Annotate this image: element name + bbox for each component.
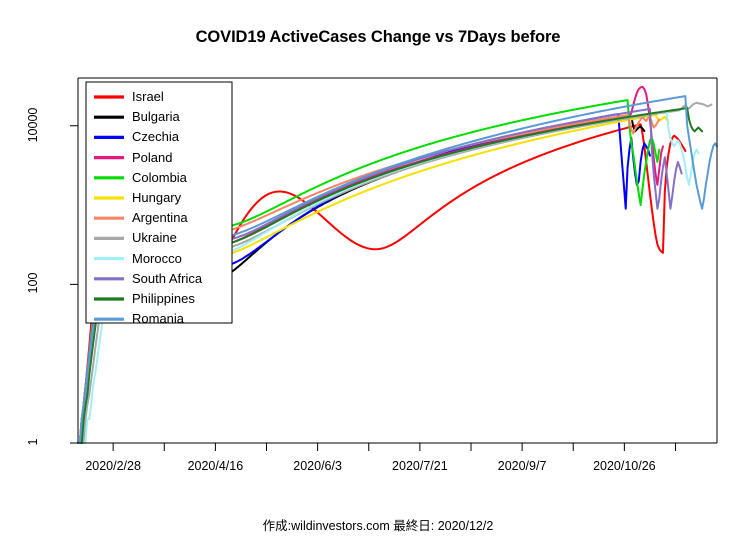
- y-tick-label: 1: [26, 409, 40, 475]
- chart-figure: COVID19 ActiveCases Change vs 7Days befo…: [0, 0, 756, 540]
- legend-item-poland[interactable]: Poland: [132, 150, 172, 165]
- legend-item-romania[interactable]: Romania: [132, 311, 184, 326]
- legend-item-hungary[interactable]: Hungary: [132, 190, 181, 205]
- x-tick-label: 2020/7/21: [375, 459, 465, 473]
- x-tick-label: 2020/10/26: [579, 459, 669, 473]
- legend-item-morocco[interactable]: Morocco: [132, 251, 182, 266]
- legend-item-colombia[interactable]: Colombia: [132, 170, 187, 185]
- legend-item-israel[interactable]: Israel: [132, 89, 164, 104]
- legend-item-philippines[interactable]: Philippines: [132, 291, 195, 306]
- y-tick-label: 10000: [26, 92, 40, 158]
- legend-item-argentina[interactable]: Argentina: [132, 210, 188, 225]
- legend-item-czechia[interactable]: Czechia: [132, 129, 179, 144]
- x-tick-label: 2020/9/7: [477, 459, 567, 473]
- y-tick-label: 100: [26, 250, 40, 316]
- legend-item-bulgaria[interactable]: Bulgaria: [132, 109, 180, 124]
- footer-credit: 作成:wildinvestors.com 最終日: 2020/12/2: [0, 515, 756, 534]
- x-tick-label: 2020/2/28: [68, 459, 158, 473]
- x-tick-label: 2020/6/3: [273, 459, 363, 473]
- x-tick-label: 2020/4/16: [170, 459, 260, 473]
- legend-item-ukraine[interactable]: Ukraine: [132, 230, 177, 245]
- legend-item-south-africa[interactable]: South Africa: [132, 271, 202, 286]
